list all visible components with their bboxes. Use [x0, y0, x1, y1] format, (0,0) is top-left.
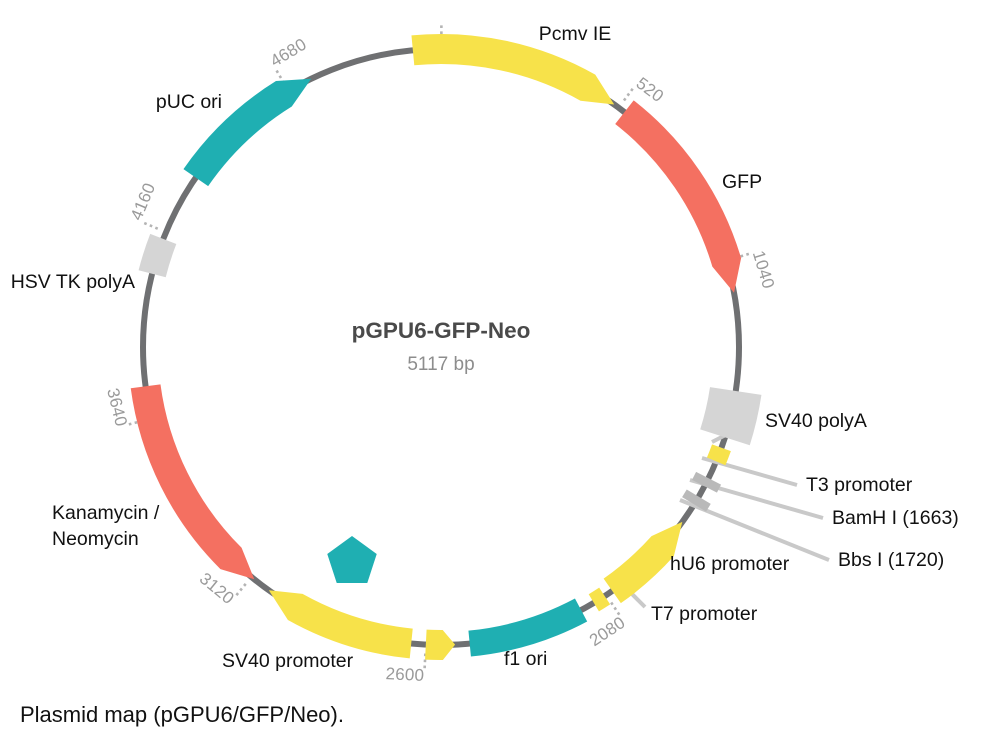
- tick-label: 1040: [749, 248, 778, 290]
- tick-label: 4680: [267, 35, 310, 71]
- feature-label-gfp: GFP: [722, 171, 762, 193]
- feature-bbs-i-1720[interactable]: [684, 493, 708, 507]
- tick-label: 3640: [103, 386, 131, 428]
- tick-mark: [235, 584, 246, 597]
- feature-gfp[interactable]: [615, 100, 741, 292]
- feature-labels-layer: Pcmv IEGFPSV40 polyAT3 promoterBamH I (1…: [11, 23, 959, 672]
- feature-label-pcmv-ie: Pcmv IE: [539, 23, 612, 45]
- feature-label-hsv-tk-polya: HSV TK polyA: [11, 271, 135, 293]
- figure-caption: Plasmid map (pGPU6/GFP/Neo).: [20, 700, 960, 730]
- tick-label: 4160: [127, 180, 159, 223]
- feature-sv40-polya[interactable]: [700, 387, 761, 445]
- feature-label-bbs-i-1720: Bbs I (1720): [838, 549, 944, 571]
- features-layer: [131, 34, 762, 660]
- feature-sv40-promoter2[interactable]: [269, 590, 413, 658]
- feature-kan-neo[interactable]: [131, 384, 255, 579]
- tick-mark: [142, 222, 158, 229]
- feature-hsv-tk-polya[interactable]: [139, 234, 177, 277]
- plasmid-size: 5117 bp: [407, 354, 474, 375]
- feature-bamh-i-1663[interactable]: [694, 476, 719, 489]
- tick-label: 2600: [385, 664, 425, 685]
- tick-mark: [624, 87, 634, 101]
- feature-label-f1-ori: f1 ori: [504, 648, 547, 670]
- feature-unlabeled-pentagon[interactable]: [327, 536, 376, 583]
- feature-label-t7-promoter: T7 promoter: [651, 603, 758, 625]
- feature-label-sv40-polya: SV40 polyA: [765, 410, 867, 432]
- tick-label: 2080: [586, 613, 629, 650]
- feature-label-sv40-promoter: SV40 promoter: [222, 650, 354, 672]
- tick-label: 3120: [196, 569, 238, 608]
- plasmid-name: pGPU6-GFP-Neo: [352, 318, 531, 343]
- feature-label-t3-promoter: T3 promoter: [806, 474, 913, 496]
- feature-sv40-promoter[interactable]: [425, 630, 455, 660]
- plasmid-map-svg: 5201040208026003120364041604680 Pcmv IEG…: [0, 0, 982, 700]
- feature-label-puc-ori: pUC ori: [156, 91, 222, 113]
- plasmid-map-canvas: 5201040208026003120364041604680 Pcmv IEG…: [0, 0, 982, 700]
- leader-line-t3-promoter: [702, 458, 797, 485]
- feature-label-bamh-i-1663: BamH I (1663): [832, 507, 959, 529]
- tick-label: 520: [633, 74, 668, 107]
- feature-label-hu6-promoter: hU6 promoter: [670, 553, 790, 575]
- feature-label-kan-neo: Kanamycin /Neomycin: [52, 502, 160, 550]
